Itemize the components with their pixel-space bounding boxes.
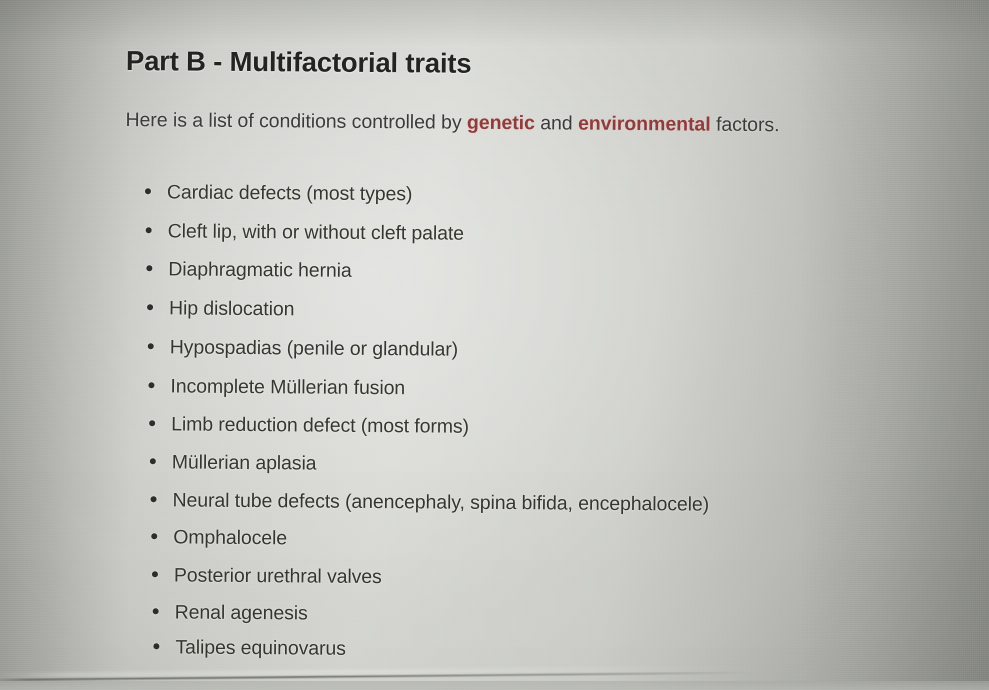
bullet-dot-icon <box>153 608 159 614</box>
list-item: Cardiac defects (most types) <box>145 181 413 206</box>
subtitle-highlight-environmental: environmental <box>578 113 711 136</box>
list-item-label: Omphalocele <box>173 526 287 550</box>
bullet-dot-icon <box>151 533 157 539</box>
subtitle-lead-text: Here is a list of conditions controlled … <box>125 109 467 134</box>
list-item-label: Hip dislocation <box>169 297 295 321</box>
list-item: Müllerian aplasia <box>150 451 317 475</box>
list-item: Limb reduction defect (most forms) <box>149 413 469 439</box>
list-item: Diaphragmatic hernia <box>146 258 352 283</box>
list-item-label: Hypospadias (penile or glandular) <box>170 336 458 361</box>
slide-content: Part B - Multifactorial traits Here is a… <box>0 0 989 690</box>
subtitle-middle-text: and <box>535 112 578 134</box>
list-item: Renal agenesis <box>153 601 308 625</box>
list-item-label: Incomplete Müllerian fusion <box>170 375 405 400</box>
list-item-label: Renal agenesis <box>175 601 308 625</box>
list-item-label: Neural tube defects (anencephaly, spina … <box>172 489 709 516</box>
page-title: Part B - Multifactorial traits <box>126 45 472 80</box>
list-item: Posterior urethral valves <box>152 564 382 589</box>
bullet-dot-icon <box>148 382 154 388</box>
bullet-dot-icon <box>152 571 158 577</box>
bullet-dot-icon <box>146 265 152 271</box>
bullet-dot-icon <box>147 304 153 310</box>
bullet-dot-icon <box>145 188 151 194</box>
list-item: Hypospadias (penile or glandular) <box>148 336 458 361</box>
list-item-label: Diaphragmatic hernia <box>168 258 352 282</box>
slide-subtitle: Here is a list of conditions controlled … <box>125 109 779 137</box>
list-item: Hip dislocation <box>147 297 295 321</box>
list-item-label: Cleft lip, with or without cleft palate <box>168 220 464 245</box>
bullet-dot-icon <box>148 343 154 349</box>
list-item-label: Limb reduction defect (most forms) <box>171 413 469 438</box>
list-item: Omphalocele <box>151 526 287 550</box>
list-item-label: Posterior urethral valves <box>174 564 382 589</box>
bullet-dot-icon <box>146 227 152 233</box>
list-item: Neural tube defects (anencephaly, spina … <box>150 489 709 516</box>
list-item: Cleft lip, with or without cleft palate <box>146 220 464 245</box>
list-item-label: Müllerian aplasia <box>172 451 317 475</box>
bullet-dot-icon <box>150 458 156 464</box>
list-item: Incomplete Müllerian fusion <box>148 375 405 400</box>
list-item-label: Cardiac defects (most types) <box>167 181 413 206</box>
subtitle-trail-text: factors. <box>711 114 780 137</box>
subtitle-highlight-genetic: genetic <box>467 112 535 135</box>
conditions-bullet-list: Cardiac defects (most types)Cleft lip, w… <box>0 0 989 7</box>
photographed-slide: Part B - Multifactorial traits Here is a… <box>0 0 989 690</box>
list-item: Talipes equinovarus <box>153 636 346 661</box>
list-item-label: Talipes equinovarus <box>175 636 346 660</box>
bullet-dot-icon <box>153 643 159 649</box>
bullet-dot-icon <box>151 496 157 502</box>
bullet-dot-icon <box>149 420 155 426</box>
